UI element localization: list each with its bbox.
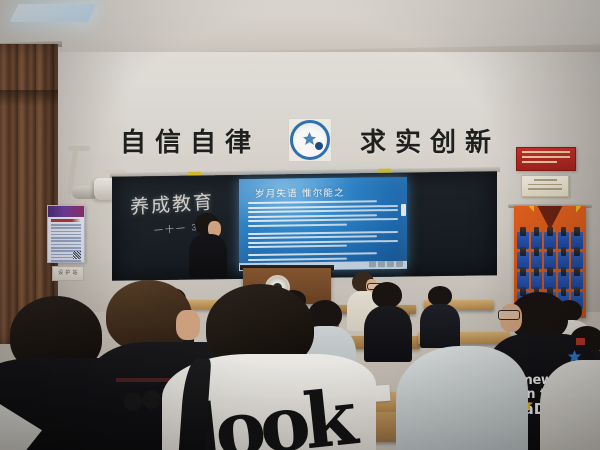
student-head — [372, 282, 402, 308]
poster-qr-icon — [73, 251, 81, 259]
student-torso — [420, 304, 460, 348]
jersey-script-text: look — [189, 388, 353, 450]
slide-control-button[interactable] — [387, 261, 394, 267]
presenter-torso — [189, 234, 227, 278]
wall-sign-label: 设 护 站 — [52, 266, 84, 281]
poster-title-bar — [51, 219, 81, 222]
slogan-left-text: 自信自律 — [120, 122, 260, 159]
ceiling-light — [10, 4, 97, 22]
shirt-print-graphic: ●● — [121, 382, 162, 415]
projector-screen[interactable]: 岁月失语 惟尔能之 — [239, 177, 407, 271]
student-face — [176, 310, 200, 340]
slide-control-button[interactable] — [369, 261, 376, 267]
certificate-frame — [521, 175, 569, 197]
student-shirt — [396, 346, 528, 450]
emblem-ring-icon — [290, 120, 330, 160]
slide-control-button[interactable] — [378, 261, 385, 267]
curtain-shadow — [0, 90, 58, 106]
slogan-right-text: 求实创新 — [360, 122, 500, 159]
safety-notice-poster — [47, 205, 85, 263]
poster-header-band — [48, 206, 84, 217]
slide-body-text — [248, 200, 398, 263]
wall-slogan: 自信自律 求实创新 — [120, 118, 500, 162]
camera-bracket-arm — [68, 146, 90, 151]
emblem-dot-icon — [315, 142, 323, 150]
slide-control-button[interactable] — [396, 261, 403, 267]
screen-side-button[interactable] — [401, 204, 406, 216]
flag-graphic-icon — [576, 338, 585, 345]
slide-title: 岁月失语 惟尔能之 — [255, 185, 345, 200]
classroom-photo: 设 护 站 自信自律 求实创新 养成教育 一十一 3. 岁月失语 惟尔能之 — [0, 0, 600, 450]
student-torso — [364, 306, 412, 362]
school-emblem — [288, 118, 332, 162]
student-head — [428, 286, 452, 306]
slide-controls[interactable] — [369, 261, 403, 267]
glasses-icon — [498, 310, 520, 320]
red-honor-sign — [516, 147, 576, 171]
